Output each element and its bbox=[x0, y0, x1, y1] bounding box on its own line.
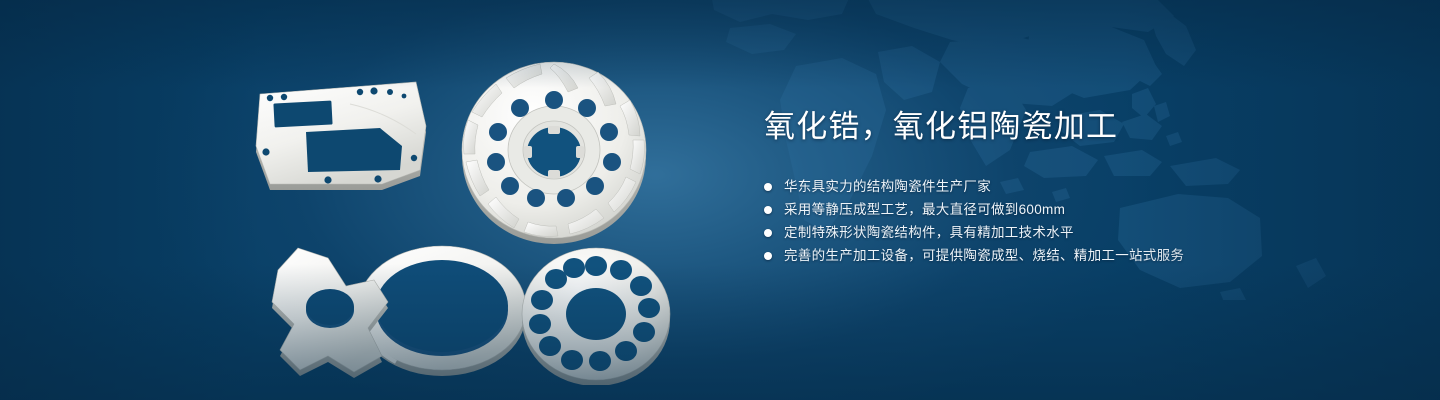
banner-vignette bbox=[0, 0, 1440, 400]
hero-banner: 氧化锆，氧化铝陶瓷加工 华东具实力的结构陶瓷件生产厂家 采用等静压成型工艺，最大… bbox=[0, 0, 1440, 400]
